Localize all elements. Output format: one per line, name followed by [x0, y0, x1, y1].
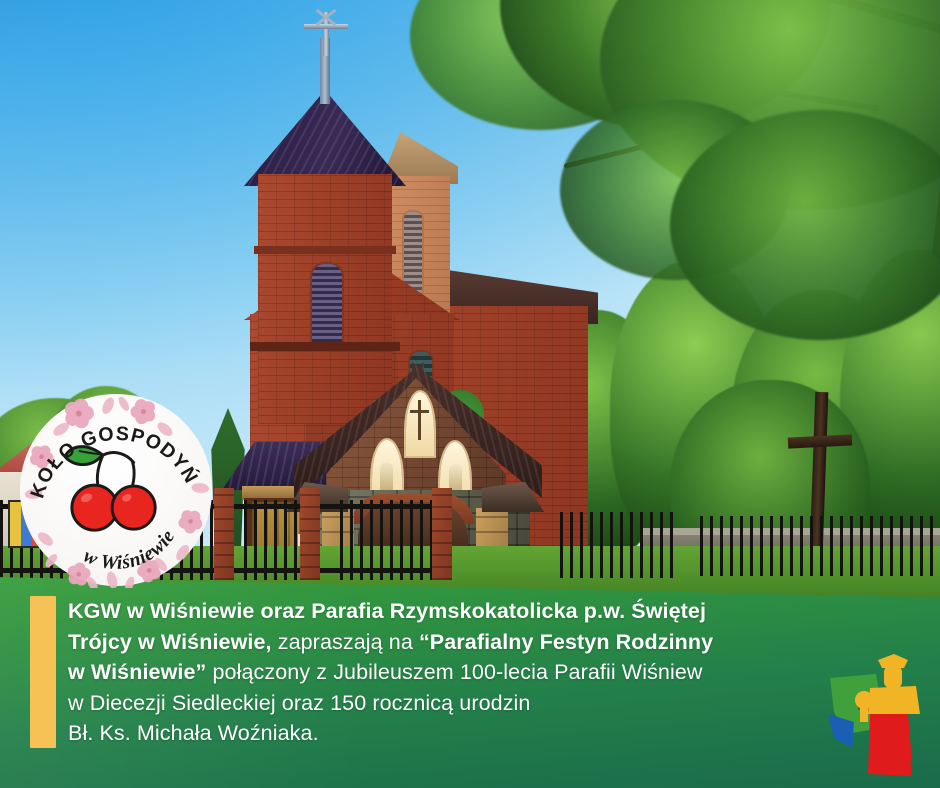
parish-name-bold: Trójcy w Wiśniewie,	[68, 630, 272, 654]
announcement-line-5: Bł. Ks. Michała Woźniaka.	[68, 718, 858, 749]
invite-phrase: zapraszają na	[272, 630, 419, 654]
kgw-logo-badge: KOŁO GOSPODYŃ WIEJSKICH w Wiśniewie	[18, 392, 214, 588]
event-title-part-2: w Wiśniewie”	[68, 660, 206, 684]
jubilee-phrase: połączony z Jubileuszem 100-lecia Parafi…	[206, 660, 702, 684]
event-title-part-1: “Parafialny Festyn Rodzinny	[419, 630, 713, 654]
announcement-line-1-bold: KGW w Wiśniewie oraz Parafia Rzymskokato…	[68, 599, 706, 623]
announcement-line-3: w Wiśniewie” połączony z Jubileuszem 100…	[68, 657, 858, 688]
poster-root: KGW w Wiśniewie oraz Parafia Rzymskokato…	[0, 0, 940, 788]
announcement-line-2: Trójcy w Wiśniewie, zapraszają na “Paraf…	[68, 627, 858, 658]
announcement-line-4: w Diecezji Siedleckiej oraz 150 rocznicą…	[68, 688, 858, 719]
emblem-priest-robe	[880, 714, 912, 762]
emblem-priest-head	[884, 667, 902, 685]
announcement-text: KGW w Wiśniewie oraz Parafia Rzymskokato…	[68, 596, 858, 749]
announcement-line-1: KGW w Wiśniewie oraz Parafia Rzymskokato…	[68, 596, 858, 627]
blessed-priest-emblem	[824, 652, 936, 776]
accent-bar	[30, 596, 56, 748]
